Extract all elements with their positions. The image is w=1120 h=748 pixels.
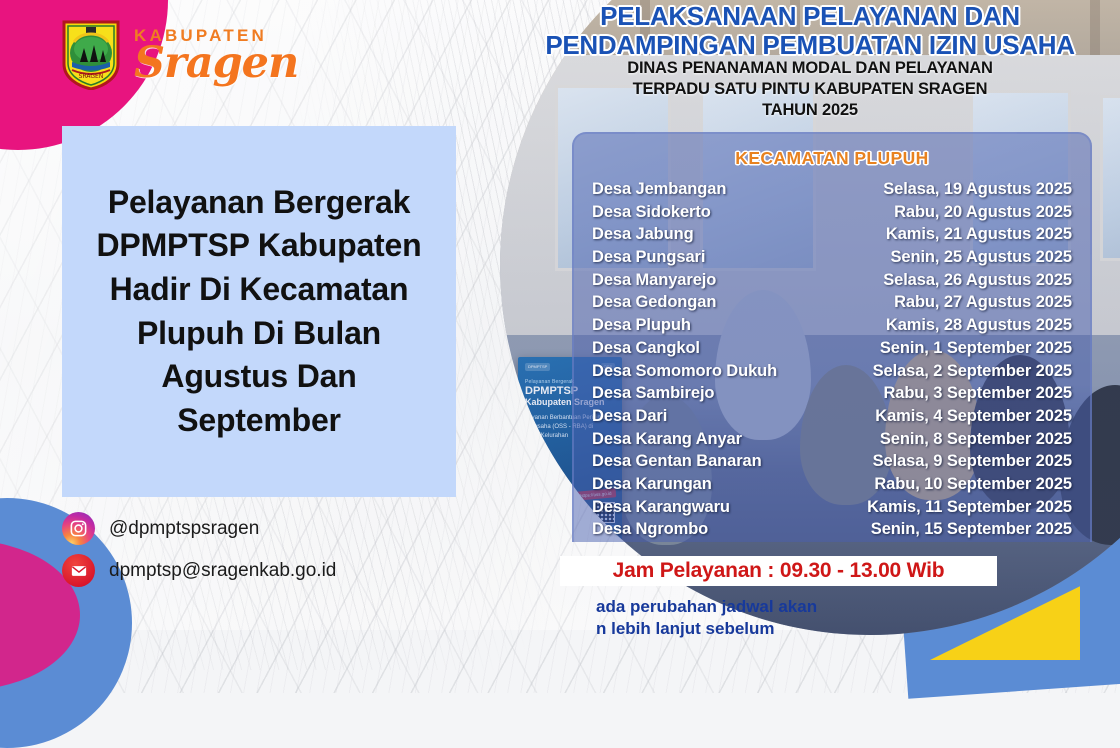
schedule-date: Kamis, 4 September 2025: [875, 405, 1072, 428]
contact-email[interactable]: dpmptsp@sragenkab.go.id: [62, 554, 336, 587]
email-icon: [62, 554, 95, 587]
schedule-village: Desa Karang Anyar: [592, 428, 742, 451]
schedule-row: Desa Karang AnyarSenin, 8 September 2025: [592, 428, 1072, 451]
contact-email-address: dpmptsp@sragenkab.go.id: [109, 560, 336, 582]
schedule-row: Desa Gentan BanaranSelasa, 9 September 2…: [592, 450, 1072, 473]
logo-regency-name: Sragen: [134, 42, 298, 85]
poster-agency-name: DINAS PENANAMAN MODAL DAN PELAYANAN TERP…: [560, 58, 1060, 121]
schedule-village: Desa Sidokerto: [592, 201, 711, 224]
schedule-date: Selasa, 2 September 2025: [873, 360, 1072, 383]
poster-agency-line-3: TAHUN 2025: [560, 100, 1060, 121]
schedule-village: Desa Ngrombo: [592, 518, 708, 541]
schedule-panel: KECAMATAN PLUPUH Desa JembanganSelasa, 1…: [572, 132, 1092, 542]
schedule-row: Desa CangkolSenin, 1 September 2025: [592, 337, 1072, 360]
schedule-date: Rabu, 27 Agustus 2025: [894, 291, 1072, 314]
schedule-row: Desa PungsariSenin, 25 Agustus 2025: [592, 246, 1072, 269]
svg-text:SRAGEN: SRAGEN: [79, 73, 104, 80]
note-line-1: ada perubahan jadwal akan: [596, 596, 1011, 618]
page-title: Pelayanan Bergerak DPMPTSP Kabupaten Had…: [80, 181, 438, 442]
sragen-regency-logo: SRAGEN KABUPATEN Sragen: [60, 18, 298, 90]
schedule-list: Desa JembanganSelasa, 19 Agustus 2025Des…: [574, 178, 1090, 541]
schedule-row: Desa ManyarejoSelasa, 26 Agustus 2025: [592, 269, 1072, 292]
district-title: KECAMATAN PLUPUH: [574, 148, 1090, 169]
schedule-row: Desa SidokertoRabu, 20 Agustus 2025: [592, 201, 1072, 224]
schedule-row: Desa JabungKamis, 21 Agustus 2025: [592, 223, 1072, 246]
schedule-village: Desa Cangkol: [592, 337, 700, 360]
schedule-date: Rabu, 20 Agustus 2025: [894, 201, 1072, 224]
schedule-row: Desa Somomoro DukuhSelasa, 2 September 2…: [592, 360, 1072, 383]
schedule-village: Desa Karangwaru: [592, 496, 730, 519]
contact-list: @dpmptspsragen dpmptsp@sragenkab.go.id: [62, 512, 336, 587]
schedule-change-note: ada perubahan jadwal akan n lebih lanjut…: [596, 596, 1011, 641]
service-hours-bar: Jam Pelayanan : 09.30 - 13.00 Wib: [560, 556, 997, 586]
schedule-date: Senin, 25 Agustus 2025: [890, 246, 1072, 269]
schedule-village: Desa Plupuh: [592, 314, 691, 337]
contact-instagram-handle: @dpmptspsragen: [109, 518, 259, 540]
schedule-row: Desa KarunganRabu, 10 September 2025: [592, 473, 1072, 496]
schedule-date: Selasa, 26 Agustus 2025: [883, 269, 1072, 292]
schedule-date: Senin, 1 September 2025: [880, 337, 1072, 360]
schedule-date: Rabu, 3 September 2025: [883, 382, 1072, 405]
schedule-date: Senin, 15 September 2025: [871, 518, 1072, 541]
schedule-date: Selasa, 19 Agustus 2025: [883, 178, 1072, 201]
schedule-date: Kamis, 11 September 2025: [867, 496, 1072, 519]
sragen-crest-icon: SRAGEN: [60, 18, 122, 90]
instagram-icon: [62, 512, 95, 545]
poster-agency-line-1: DINAS PENANAMAN MODAL DAN PELAYANAN: [560, 58, 1060, 79]
poster-blue-headline-line-1: PELAKSANAAN PELAYANAN DAN: [500, 2, 1120, 31]
schedule-village: Desa Manyarejo: [592, 269, 716, 292]
schedule-date: Kamis, 21 Agustus 2025: [886, 223, 1072, 246]
schedule-date: Kamis, 28 Agustus 2025: [886, 314, 1072, 337]
schedule-village: Desa Dari: [592, 405, 667, 428]
schedule-date: Senin, 8 September 2025: [880, 428, 1072, 451]
poster-blue-headline-line-2: PENDAMPINGAN PEMBUATAN IZIN USAHA: [500, 31, 1120, 60]
schedule-village: Desa Karungan: [592, 473, 712, 496]
schedule-village: Desa Gedongan: [592, 291, 716, 314]
schedule-row: Desa GedonganRabu, 27 Agustus 2025: [592, 291, 1072, 314]
schedule-row: Desa SambirejoRabu, 3 September 2025: [592, 382, 1072, 405]
schedule-row: Desa NgromboSenin, 15 September 2025: [592, 518, 1072, 541]
schedule-village: Desa Somomoro Dukuh: [592, 360, 777, 383]
schedule-date: Selasa, 9 September 2025: [873, 450, 1072, 473]
poster-agency-line-2: TERPADU SATU PINTU KABUPATEN SRAGEN: [560, 79, 1060, 100]
schedule-row: Desa PlupuhKamis, 28 Agustus 2025: [592, 314, 1072, 337]
contact-instagram[interactable]: @dpmptspsragen: [62, 512, 336, 545]
schedule-row: Desa KarangwaruKamis, 11 September 2025: [592, 496, 1072, 519]
schedule-date: Rabu, 10 September 2025: [874, 473, 1072, 496]
schedule-village: Desa Jabung: [592, 223, 694, 246]
service-hours-text: Jam Pelayanan : 09.30 - 13.00 Wib: [613, 559, 945, 583]
schedule-village: Desa Sambirejo: [592, 382, 714, 405]
headline-box: Pelayanan Bergerak DPMPTSP Kabupaten Had…: [62, 126, 456, 497]
schedule-row: Desa DariKamis, 4 September 2025: [592, 405, 1072, 428]
schedule-row: Desa JembanganSelasa, 19 Agustus 2025: [592, 178, 1072, 201]
schedule-village: Desa Jembangan: [592, 178, 726, 201]
schedule-village: Desa Gentan Banaran: [592, 450, 762, 473]
schedule-village: Desa Pungsari: [592, 246, 705, 269]
poster-blue-headline: PELAKSANAAN PELAYANAN DAN PENDAMPINGAN P…: [500, 2, 1120, 60]
